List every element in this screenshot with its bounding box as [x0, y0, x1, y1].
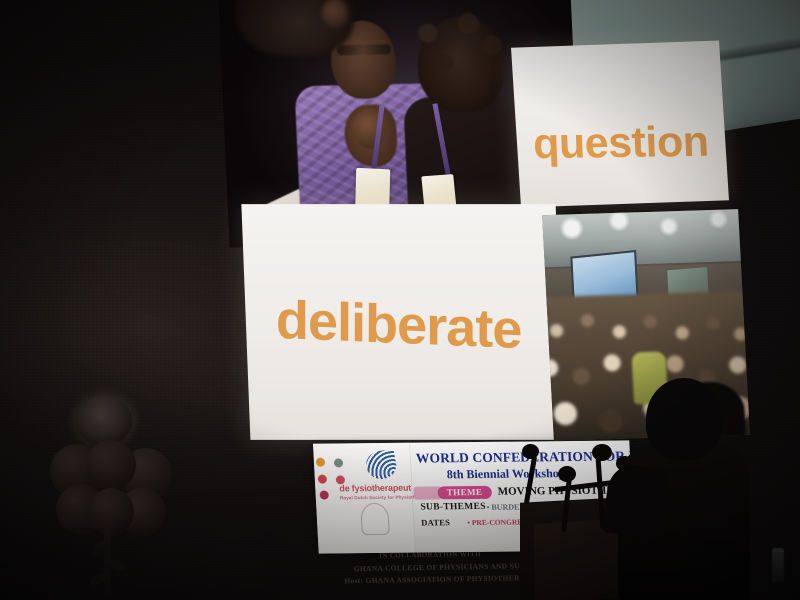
speaker-shoulder [601, 462, 668, 539]
balloon-cluster [34, 392, 194, 600]
logo-figure-icon [360, 503, 390, 535]
water-bottle [772, 548, 784, 582]
audience-photo-lights [542, 209, 750, 251]
slide-word-deliberate: deliberate [276, 293, 522, 357]
logo-dot-gray [334, 458, 343, 467]
logo-dot-red [318, 475, 327, 484]
glasses-icon [337, 44, 391, 55]
balloon [76, 396, 132, 446]
speaker-silhouette [612, 378, 762, 600]
mic-stem [524, 456, 537, 504]
balloon [88, 488, 134, 536]
far-microphone [516, 444, 556, 502]
deliberate-slide-panel: deliberate [241, 204, 564, 440]
question-slide-panel: question [511, 41, 729, 208]
logo-name: de fysiotherapeut [339, 483, 411, 494]
sub-banner-line3: Host: GHANA ASSOCIATION OF PHYSIOTHERAPI… [344, 573, 548, 586]
screenshot-root: question deliberate de fysiotherapeut Ro… [0, 0, 800, 600]
logo-dot-orange [316, 458, 325, 467]
delegate-woman-hair [415, 16, 505, 114]
slide-word-question: question [532, 121, 709, 166]
theme-badge: THEME [437, 486, 491, 500]
wave-logo-icon [364, 449, 399, 481]
speaker-head [646, 378, 722, 460]
balloon [86, 440, 136, 490]
sub-banner-line1: IN COLLABORATION WITH [379, 550, 481, 560]
banner-subthemes-label: SUB-THEMES [420, 502, 486, 513]
banner-dates-label: DATES [421, 517, 450, 527]
banner-logo-section: de fysiotherapeut Royal Dutch Society fo… [313, 443, 416, 554]
logo-dot-magenta [319, 491, 328, 500]
